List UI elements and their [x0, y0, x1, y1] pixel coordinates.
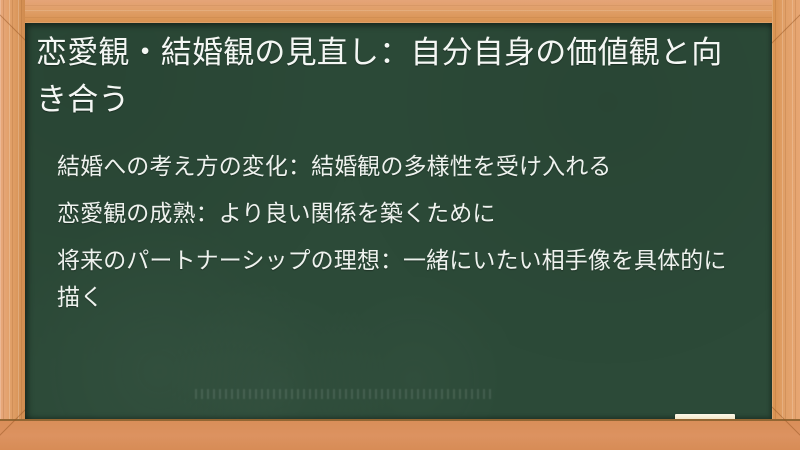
slide-content: 恋愛観・結婚観の見直し：自分自身の価値観と向き合う 結婚への考え方の変化：結婚観… — [25, 23, 772, 419]
bullet-item: 将来のパートナーシップの理想：一緒にいたい相手像を具体的に描く — [57, 243, 747, 317]
bullet-item: 結婚への考え方の変化：結婚観の多様性を受け入れる — [57, 149, 747, 186]
frame-rail-bottom — [0, 419, 800, 450]
bullet-item: 恋愛観の成熟：より良い関係を築くために — [57, 196, 747, 233]
chalk-stick — [675, 414, 735, 419]
bullet-list: 結婚への考え方の変化：結婚観の多様性を受け入れる 恋愛観の成熟：より良い関係を築… — [57, 149, 747, 317]
frame-rail-left — [0, 0, 25, 450]
frame-rail-top — [0, 0, 800, 23]
chalkboard-surface: 恋愛観・結婚観の見直し：自分自身の価値観と向き合う 結婚への考え方の変化：結婚観… — [25, 23, 772, 419]
chalkboard-slide: 恋愛観・結婚観の見直し：自分自身の価値観と向き合う 結婚への考え方の変化：結婚観… — [0, 0, 800, 450]
frame-rail-right — [772, 0, 800, 450]
slide-title: 恋愛観・結婚観の見直し：自分自身の価値観と向き合う — [36, 30, 736, 124]
